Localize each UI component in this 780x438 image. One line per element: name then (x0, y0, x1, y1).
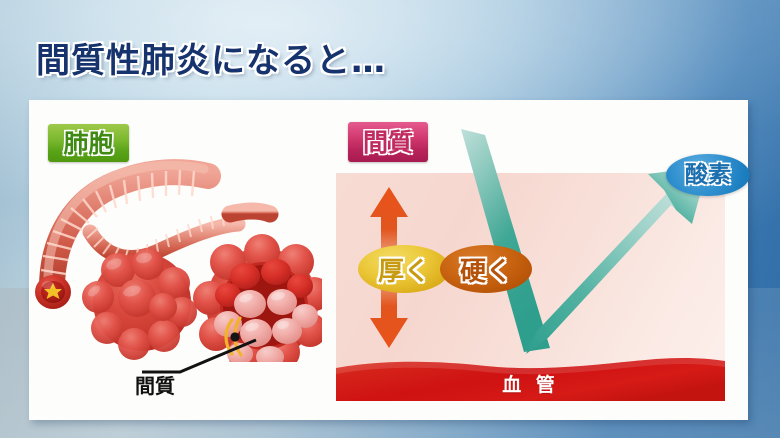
infographic-stage: 間質性肺炎になると… (0, 0, 780, 438)
blood-vessel-label: 血 管 (336, 370, 725, 397)
callout-anchor-dot (230, 332, 239, 341)
bronchiole-cross-section (35, 275, 71, 309)
alveolar-sac-right (193, 234, 322, 362)
page-title: 間質性肺炎になると… (36, 44, 386, 78)
alveoli-bronchiole-illustration (32, 152, 322, 362)
alveolar-sac-left (82, 248, 197, 360)
pill-harder-label: 硬く (460, 251, 512, 288)
pill-harder: 硬く (440, 245, 532, 293)
badge-interstitium: 間質 (348, 122, 428, 162)
interstitium-callout-label: 間質 (135, 370, 175, 399)
badge-oxygen: 酸素 (666, 154, 750, 196)
badge-alveoli-label: 肺胞 (63, 131, 113, 156)
pill-thicker: 厚く (358, 245, 450, 293)
pill-thicker-label: 厚く (378, 251, 430, 288)
badge-oxygen-label: 酸素 (685, 164, 731, 187)
badge-interstitium-label: 間質 (363, 130, 413, 155)
badge-alveoli: 肺胞 (48, 124, 129, 162)
